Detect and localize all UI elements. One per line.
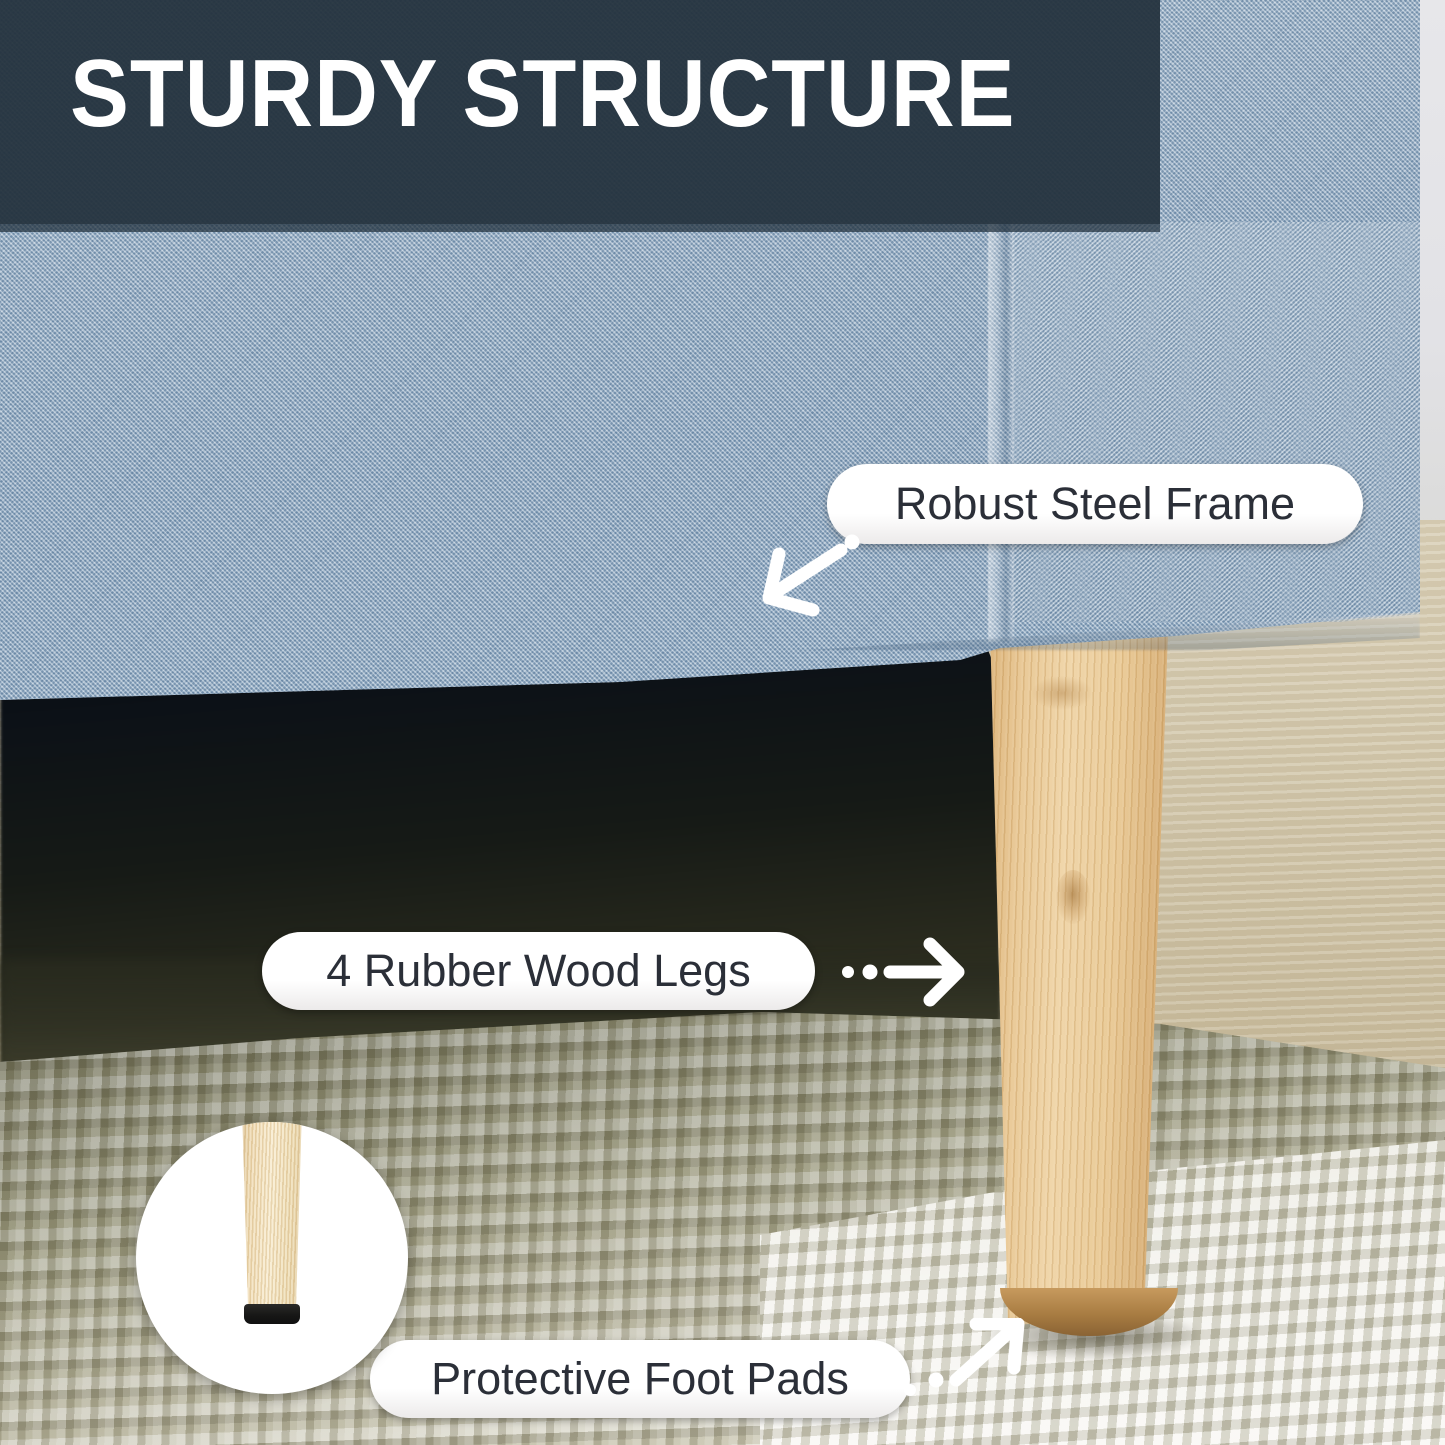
fabric-corner-seam [988, 222, 1014, 642]
fabric-side-panel [1012, 222, 1420, 622]
title-banner: STURDY STRUCTURE [0, 0, 1160, 224]
wood-grain-knot [1056, 870, 1090, 924]
callout-label: Robust Steel Frame [895, 478, 1295, 530]
inset-foot-pad [244, 1304, 300, 1324]
inset-wood-leg [236, 1122, 308, 1306]
foot-pad-detail-inset [136, 1122, 408, 1394]
wood-grain-knot [1032, 676, 1092, 710]
callout-rubber-wood-legs[interactable]: 4 Rubber Wood Legs [262, 932, 815, 1010]
callout-protective-foot-pads[interactable]: Protective Foot Pads [370, 1340, 910, 1418]
page-title: STURDY STRUCTURE [70, 46, 1015, 142]
callout-label: Protective Foot Pads [431, 1353, 849, 1405]
infographic-canvas: STURDY STRUCTURE Robust Steel Frame 4 Ru… [0, 0, 1445, 1445]
callout-robust-steel-frame[interactable]: Robust Steel Frame [827, 464, 1363, 544]
callout-label: 4 Rubber Wood Legs [326, 945, 750, 997]
